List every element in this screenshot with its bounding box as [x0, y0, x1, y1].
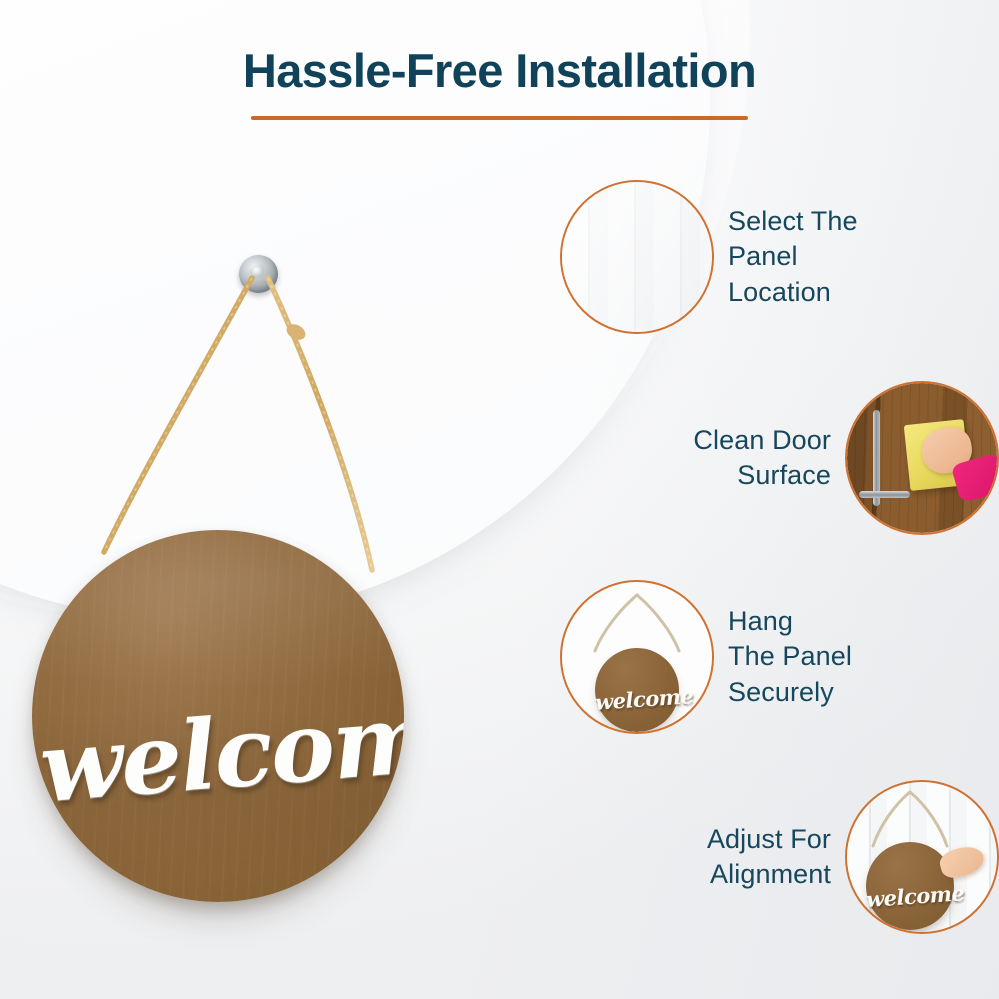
- title-underline-rule: [251, 116, 748, 120]
- step-2-label: Clean Door Surface: [560, 423, 845, 493]
- adjusting-sign-art: welcome: [847, 782, 997, 932]
- thumb-welcome-disc: welcome: [866, 842, 954, 930]
- white-planks-art: [562, 182, 712, 332]
- page-title: Hassle-Free Installation: [0, 46, 999, 95]
- thumb-welcome-disc: welcome: [595, 648, 679, 732]
- infographic-canvas: Hassle-Free Installation welcome: [0, 0, 999, 999]
- header: Hassle-Free Installation: [0, 46, 999, 120]
- hanging-sign-art: welcome: [562, 582, 712, 732]
- white-panel-wall-thumb: [560, 180, 714, 334]
- step-4-adjust-for-alignment: welcome Adjust For Alignment: [560, 768, 999, 946]
- step-3-hang-panel-securely: welcome Hang The Panel Securely: [560, 568, 999, 746]
- thumb-image-clip: welcome: [847, 782, 997, 932]
- step-4-label: Adjust For Alignment: [560, 822, 845, 892]
- cleaning-door-thumb: [845, 381, 999, 535]
- thumb-welcome-lettering: welcome: [594, 685, 680, 716]
- installation-steps-list: Select The Panel Location Clean Door Sur…: [560, 168, 999, 968]
- step-3-label: Hang The Panel Securely: [714, 604, 866, 709]
- thumb-image-clip: welcome: [562, 582, 712, 732]
- adjusting-sign-thumb: welcome: [845, 780, 999, 934]
- step-1-label: Select The Panel Location: [714, 204, 872, 309]
- thumb-image-clip: [847, 383, 997, 533]
- welcome-sign-disc: welcome: [32, 530, 404, 902]
- thumb-welcome-lettering: welcome: [865, 881, 955, 912]
- wooden-door-art: [847, 383, 997, 533]
- hanging-sign-thumb: welcome: [560, 580, 714, 734]
- welcome-lettering: welcome: [37, 692, 404, 817]
- thumb-image-clip: [562, 182, 712, 332]
- step-2-clean-door-surface: Clean Door Surface: [560, 369, 999, 547]
- step-1-select-panel-location: Select The Panel Location: [560, 168, 999, 346]
- thumb-rope: [847, 788, 975, 850]
- product-hero-image: welcome: [0, 150, 560, 999]
- door-handle-horizontal: [859, 491, 910, 498]
